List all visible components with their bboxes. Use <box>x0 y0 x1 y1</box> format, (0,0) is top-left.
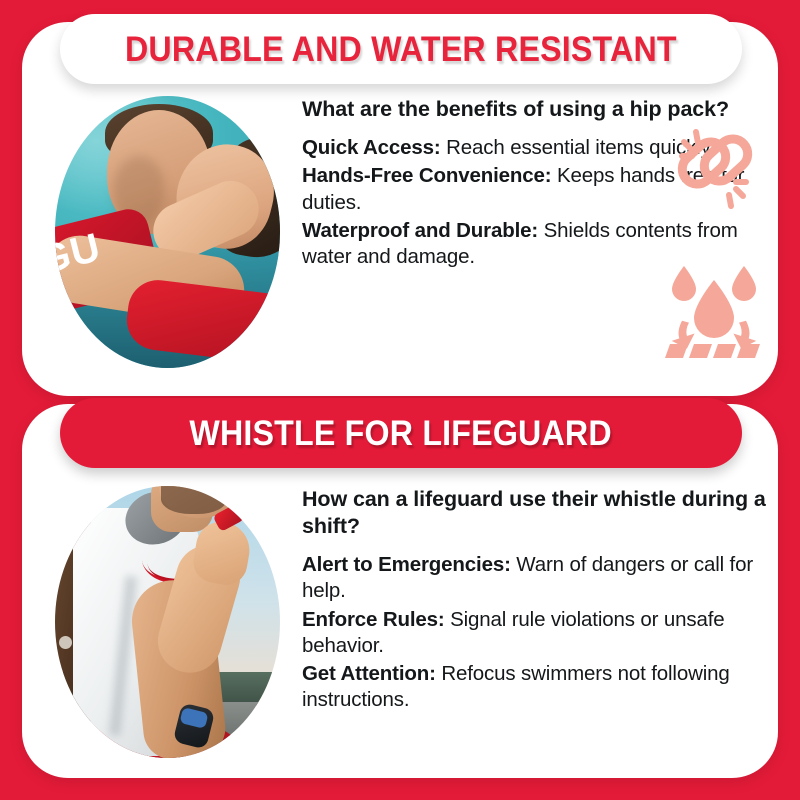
lifeguard-rescue-photo: GU <box>55 96 280 368</box>
bullet-item: Get Attention: Refocus swimmers not foll… <box>302 661 768 713</box>
post-bolt <box>59 636 72 649</box>
lifeguard-beard <box>161 486 227 514</box>
banner-title-2: WHISTLE FOR LIFEGUARD <box>190 416 612 451</box>
section-whistle-for-lifeguard: How can a lifeguard use their whistle du… <box>22 486 778 758</box>
question-2: How can a lifeguard use their whistle du… <box>302 486 768 540</box>
banner-title-1: DURABLE AND WATER RESISTANT <box>125 32 677 67</box>
waterproof-icon <box>662 248 766 358</box>
bullet-label: Enforce Rules: <box>302 608 445 631</box>
bullet-item: Enforce Rules: Signal rule violations or… <box>302 607 768 659</box>
banner-durable-and-water-resistant: DURABLE AND WATER RESISTANT <box>60 14 742 84</box>
text-column-2: How can a lifeguard use their whistle du… <box>280 486 778 716</box>
bullet-label: Alert to Emergencies: <box>302 553 511 576</box>
bullet-label: Waterproof and Durable: <box>302 219 538 242</box>
bullet-item: Alert to Emergencies: Warn of dangers or… <box>302 552 768 604</box>
poster-root: DURABLE AND WATER RESISTANT GU What are … <box>0 0 800 800</box>
banner-whistle-for-lifeguard: WHISTLE FOR LIFEGUARD <box>60 398 742 468</box>
bullet-list-2: Alert to Emergencies: Warn of dangers or… <box>302 552 768 713</box>
bullet-label: Quick Access: <box>302 136 441 159</box>
lifeguard-with-whistle-photo <box>55 486 280 758</box>
chain-link-icon <box>664 112 764 212</box>
bullet-label: Hands-Free Convenience: <box>302 164 551 187</box>
bullet-label: Get Attention: <box>302 662 436 685</box>
